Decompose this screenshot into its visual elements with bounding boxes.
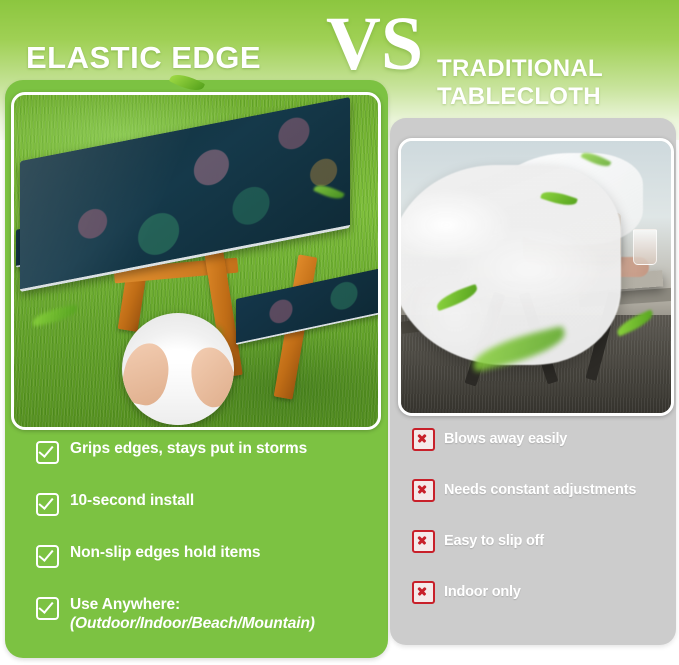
comparison-infographic: ELASTIC EDGE VS TRADITIONAL TABLECLOTH bbox=[0, 0, 679, 665]
page-title-right: TRADITIONAL TABLECLOTH bbox=[437, 55, 603, 112]
drawback-label: Blows away easily bbox=[444, 431, 567, 448]
list-item: Grips edges, stays put in storms bbox=[36, 440, 376, 464]
benefit-sublabel: (Outdoor/Indoor/Beach/Mountain) bbox=[70, 615, 315, 634]
checkbox-check-icon bbox=[36, 597, 59, 620]
drawbacks-list: Blows away easily Needs constant adjustm… bbox=[412, 428, 674, 604]
checkbox-check-icon bbox=[36, 545, 59, 568]
list-item: Non-slip edges hold items bbox=[36, 544, 376, 568]
list-item: Use Anywhere: (Outdoor/Indoor/Beach/Moun… bbox=[36, 596, 376, 634]
checkbox-check-icon bbox=[36, 493, 59, 516]
x-mark-icon bbox=[412, 479, 435, 502]
benefit-label-group: Use Anywhere: (Outdoor/Indoor/Beach/Moun… bbox=[70, 596, 315, 634]
list-item: Blows away easily bbox=[412, 428, 674, 451]
benefit-label: 10-second install bbox=[70, 492, 194, 511]
elastic-edge-product-photo bbox=[11, 92, 381, 430]
drawback-label: Needs constant adjustments bbox=[444, 482, 636, 499]
traditional-tablecloth-photo bbox=[398, 138, 674, 416]
list-item: Needs constant adjustments bbox=[412, 479, 674, 502]
white-cloth-blowing bbox=[398, 165, 621, 365]
benefit-label: Use Anywhere: bbox=[70, 596, 180, 613]
page-title-left: ELASTIC EDGE bbox=[26, 40, 261, 76]
drinking-glass bbox=[633, 229, 657, 265]
benefits-list: Grips edges, stays put in storms 10-seco… bbox=[36, 440, 376, 634]
list-item: Easy to slip off bbox=[412, 530, 674, 553]
benefit-label: Non-slip edges hold items bbox=[70, 544, 260, 563]
drawback-label: Easy to slip off bbox=[444, 533, 544, 550]
vs-label: VS bbox=[326, 6, 423, 82]
page-title-right-line2: TABLECLOTH bbox=[437, 83, 603, 111]
checkbox-check-icon bbox=[36, 441, 59, 464]
list-item: 10-second install bbox=[36, 492, 376, 516]
x-mark-icon bbox=[412, 581, 435, 604]
elastic-edge-closeup-inset bbox=[122, 313, 234, 425]
x-mark-icon bbox=[412, 530, 435, 553]
page-title-right-line1: TRADITIONAL bbox=[437, 55, 603, 83]
benefit-label: Grips edges, stays put in storms bbox=[70, 440, 307, 459]
drawback-label: Indoor only bbox=[444, 584, 521, 601]
x-mark-icon bbox=[412, 428, 435, 451]
list-item: Indoor only bbox=[412, 581, 674, 604]
